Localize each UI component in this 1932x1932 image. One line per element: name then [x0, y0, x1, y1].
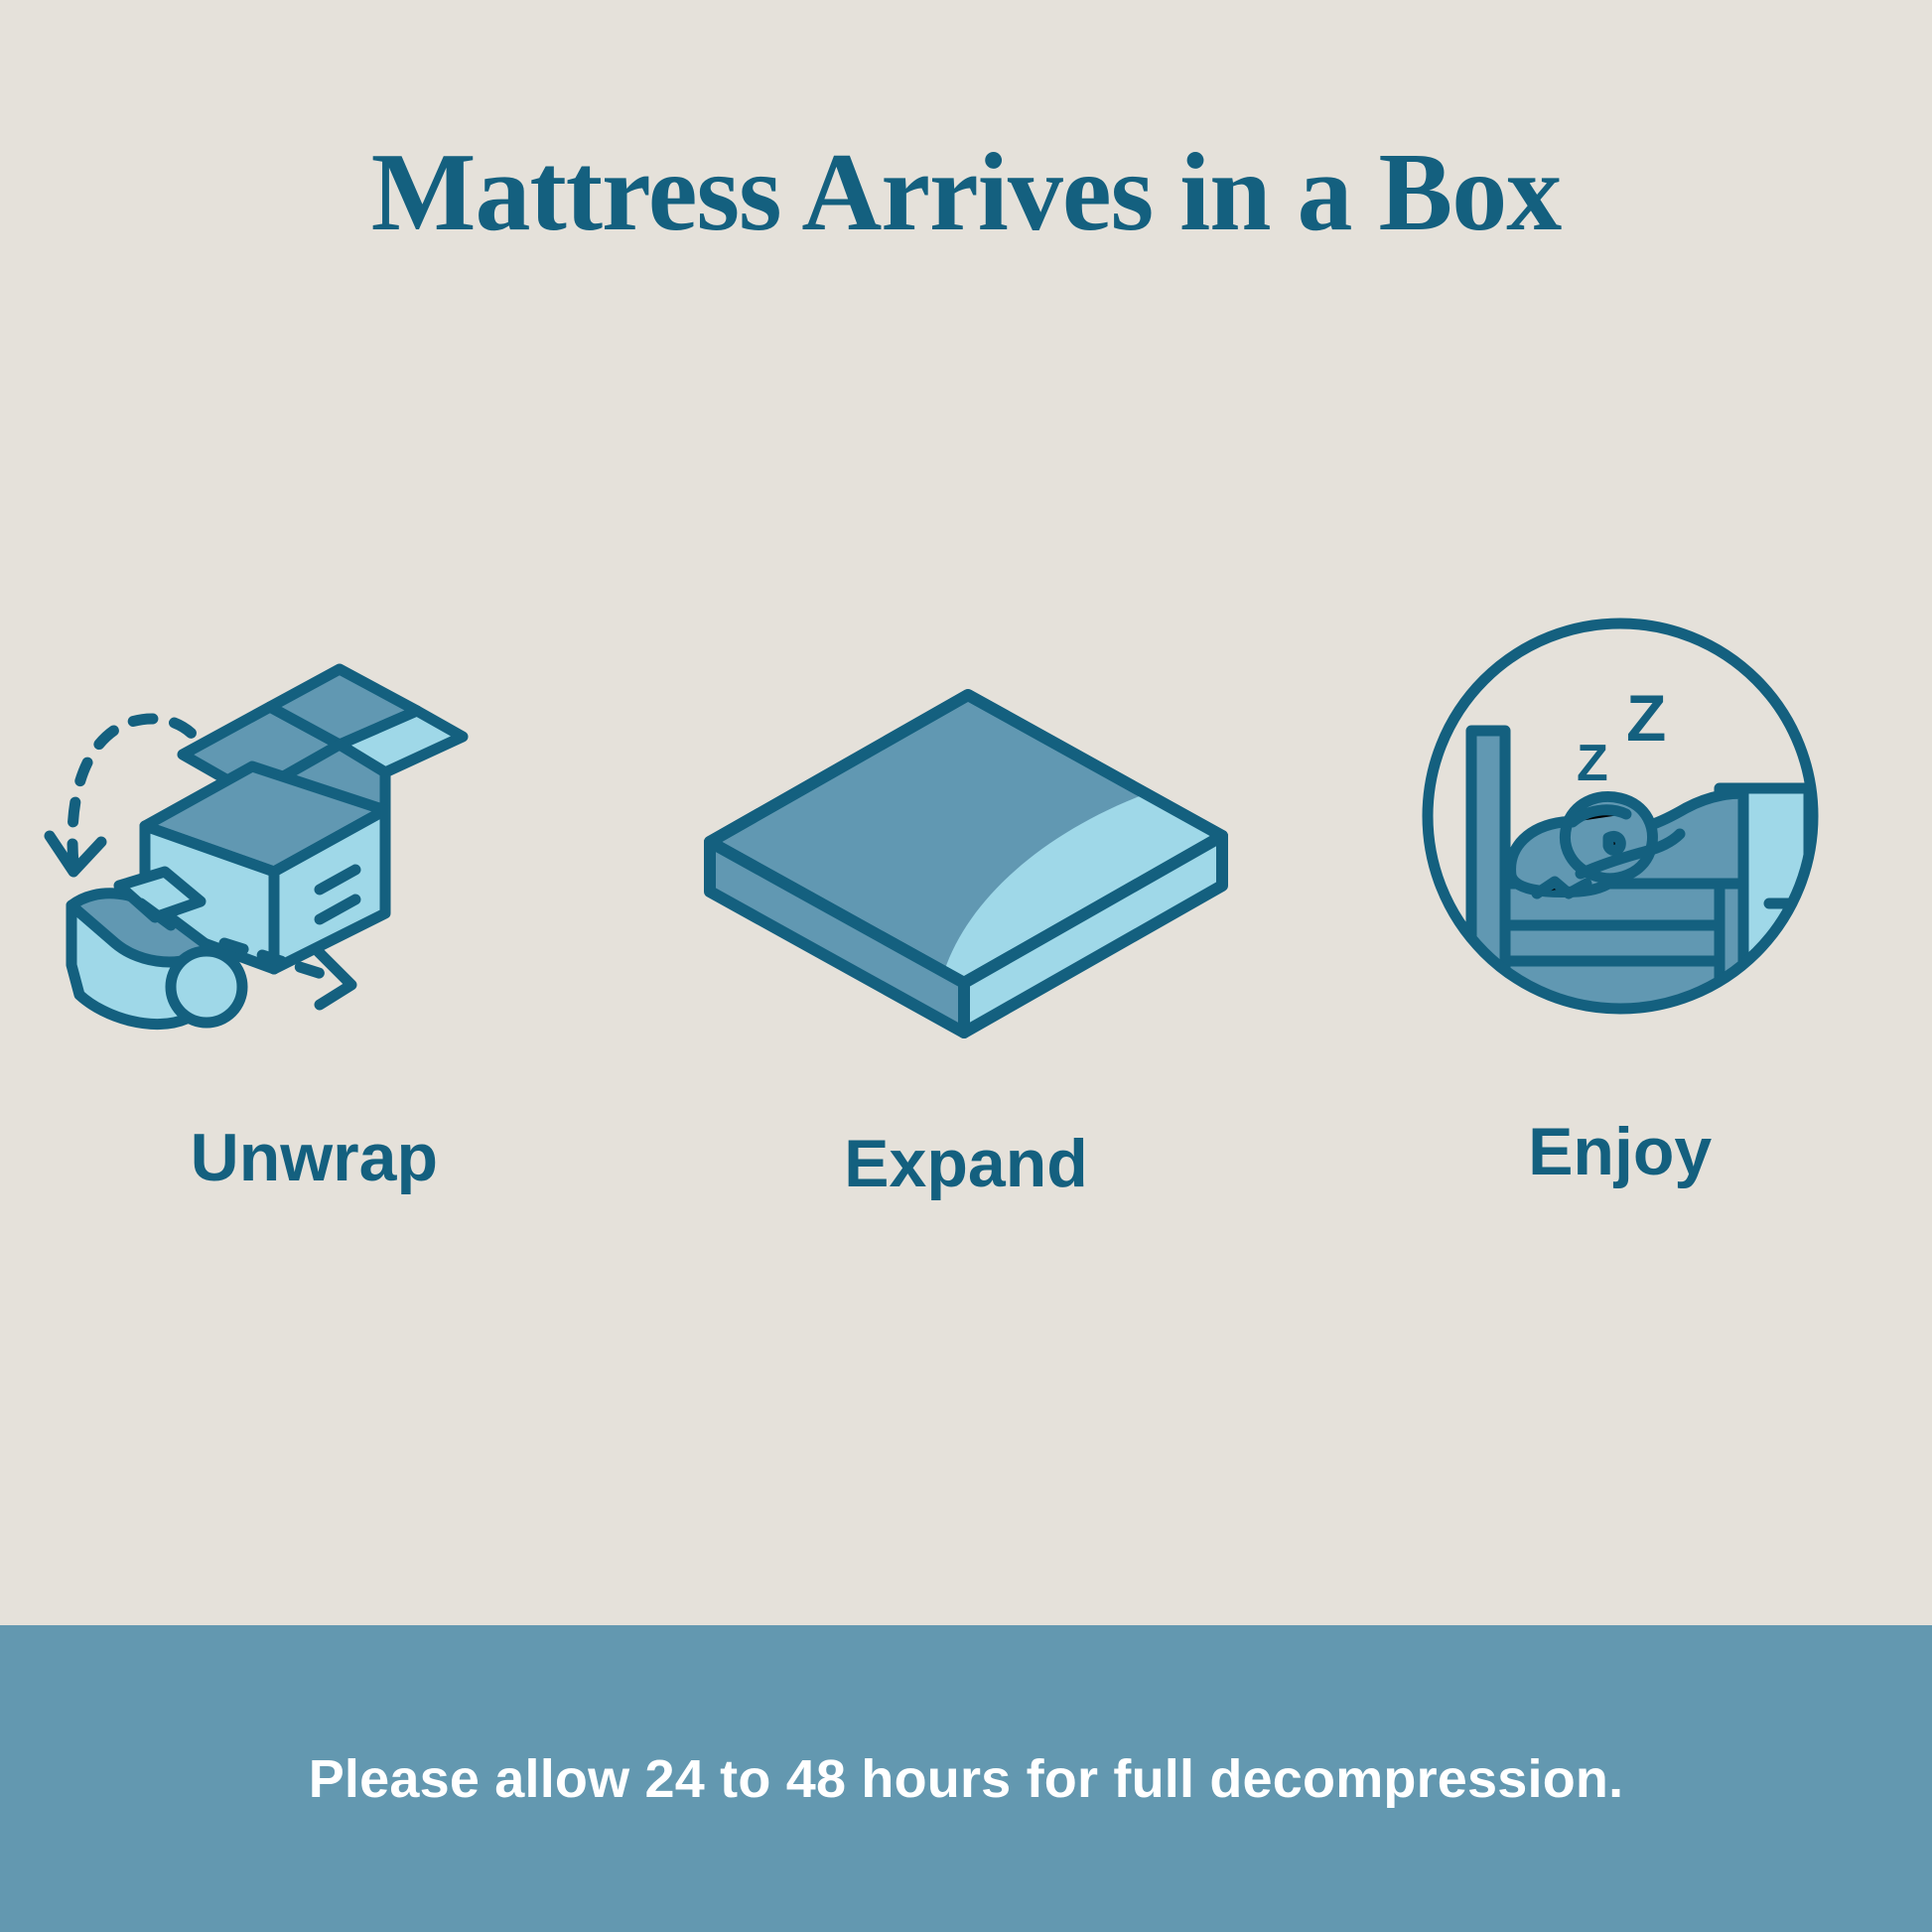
page-title: Mattress Arrives in a Box [0, 137, 1932, 248]
sleeping-person-in-bed-icon: Z Z [1342, 610, 1898, 1027]
sleep-z-small: Z [1577, 735, 1608, 792]
infographic-page: Mattress Arrives in a Box [0, 0, 1932, 1932]
step-enjoy: Z Z Enjoy [1312, 610, 1928, 1185]
step-label-expand: Expand [844, 1130, 1088, 1197]
step-label-enjoy: Enjoy [1528, 1118, 1712, 1185]
decompression-note: Please allow 24 to 48 hours for full dec… [309, 1748, 1624, 1810]
sleep-z-large: Z [1626, 681, 1666, 755]
step-unwrap: Unwrap [6, 616, 621, 1191]
flat-mattress-icon [688, 621, 1244, 1038]
steps-row: Unwrap [0, 616, 1932, 1370]
step-expand: Expand [658, 621, 1274, 1197]
step-label-unwrap: Unwrap [191, 1124, 438, 1191]
box-with-rolled-mattress-icon [36, 616, 592, 1033]
footer-banner: Please allow 24 to 48 hours for full dec… [0, 1625, 1932, 1932]
